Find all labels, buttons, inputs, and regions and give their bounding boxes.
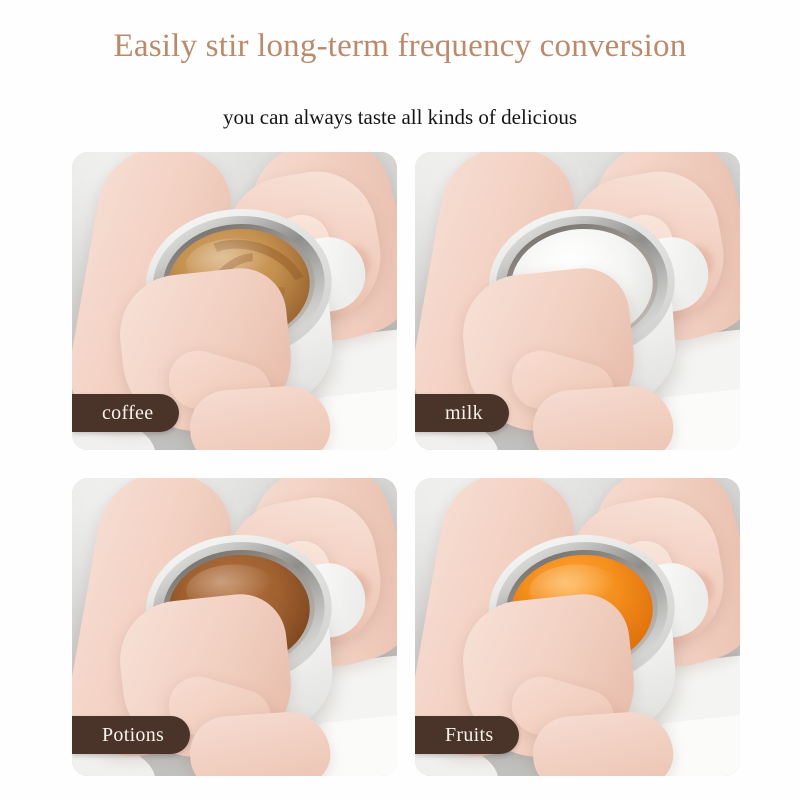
panel-label-coffee: coffee (72, 394, 179, 432)
beverage-panel-fruits[interactable]: Fruits (415, 478, 740, 776)
page-subheadline: you can always taste all kinds of delici… (0, 104, 800, 130)
panel-label-milk: milk (415, 394, 509, 432)
panel-label-potions: Potions (72, 716, 190, 754)
panel-label-fruits: Fruits (415, 716, 519, 754)
product-feature-page: Easily stir long-term frequency conversi… (0, 0, 800, 800)
beverage-panel-milk[interactable]: milk (415, 152, 740, 450)
page-headline: Easily stir long-term frequency conversi… (0, 26, 800, 66)
beverage-panel-coffee[interactable]: coffee (72, 152, 397, 450)
beverage-panel-grid: coffee (72, 152, 740, 776)
beverage-panel-potions[interactable]: Potions (72, 478, 397, 776)
